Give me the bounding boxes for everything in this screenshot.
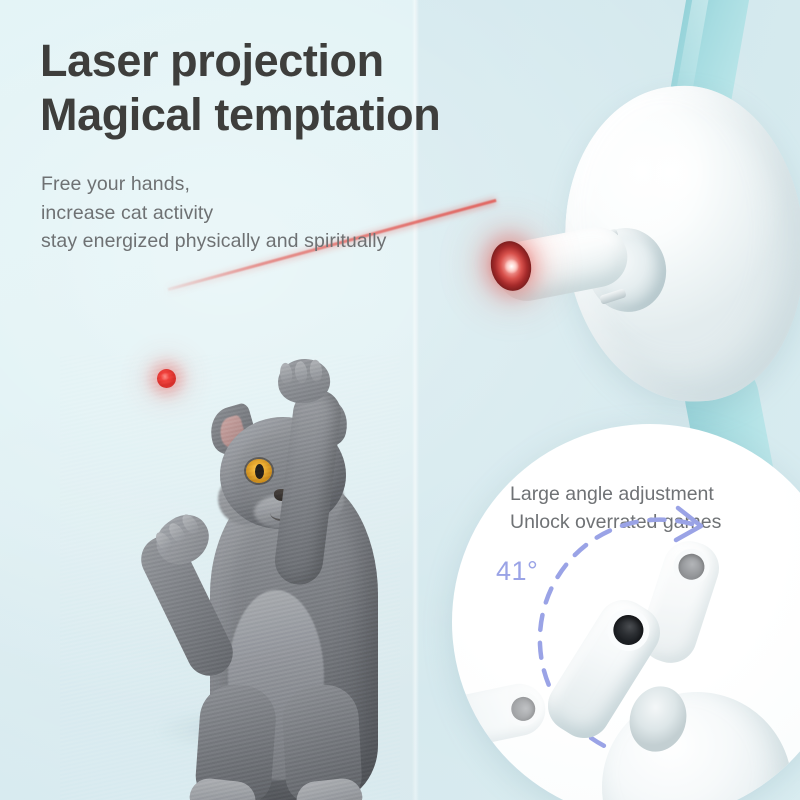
laser-head-bore-primary	[608, 609, 649, 650]
headline-line-1: Laser projection	[40, 34, 440, 88]
device-highlight	[614, 115, 726, 229]
page-title: Laser projection Magical temptation	[40, 34, 440, 142]
headline-line-2: Magical temptation	[40, 88, 440, 142]
laser-head-bore-lower	[509, 695, 537, 723]
subtitle-line-1: Free your hands,	[41, 170, 387, 199]
subtitle-line-3: stay energized physically and spirituall…	[41, 227, 387, 256]
cat-eye-left	[246, 459, 272, 483]
laser-head-bore-upper	[675, 550, 708, 583]
subtitle: Free your hands, increase cat activity s…	[41, 170, 387, 256]
cat-illustration	[60, 355, 400, 800]
subtitle-line-2: increase cat activity	[41, 199, 387, 228]
angle-value-label: 41°	[496, 556, 538, 587]
product-banner: Laser projection Magical temptation Free…	[0, 0, 800, 800]
